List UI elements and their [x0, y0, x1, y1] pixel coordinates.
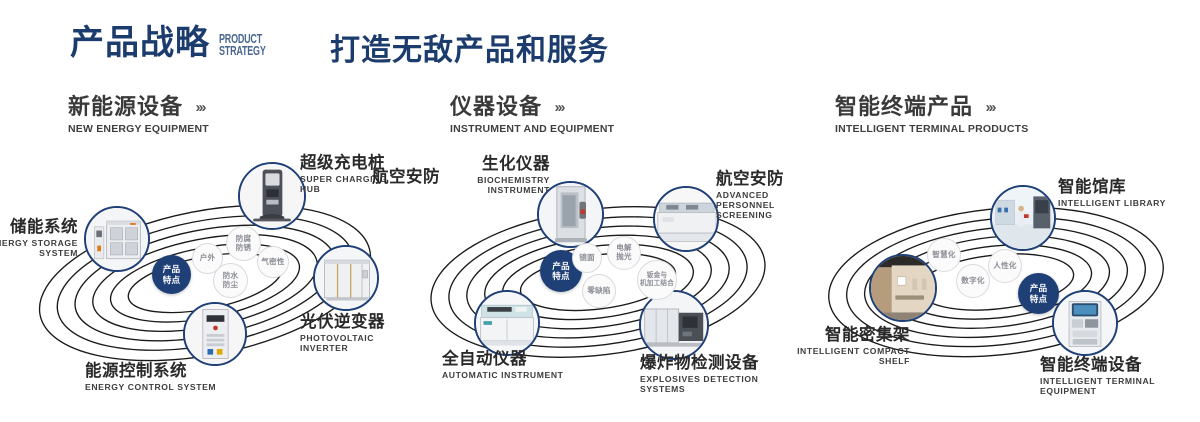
node-label-cn: 能源控制系统 — [85, 362, 187, 380]
node-label-en: INTELLIGENT COMPACT SHELF — [730, 347, 910, 367]
label-biochemistry-instrument: 生化仪器 BIOCHEMISTRY INSTRUMENT — [440, 155, 550, 196]
node-label-en: BIOCHEMISTRY INSTRUMENT — [440, 176, 550, 196]
chevron-right-icon: ››› — [554, 99, 563, 116]
node-automatic-instrument[interactable] — [474, 290, 540, 356]
node-label-cn: 航空安防 — [372, 168, 440, 186]
feature-bubble-primary: 产品 特点 — [152, 255, 191, 294]
node-label-en: ENERGY STORAGE SYSTEM — [0, 239, 78, 259]
label-energy-storage: 储能系统 ENERGY STORAGE SYSTEM — [0, 218, 78, 259]
node-label-cn: 光伏逆变器 — [300, 313, 385, 331]
feature-bubble: 智慧化 — [927, 238, 961, 272]
page-title-en: PRODUCT STRATEGY — [219, 33, 266, 59]
node-label-en: PHOTOVOLTAIC INVERTER — [300, 334, 400, 354]
node-label-cn: 全自动仪器 — [442, 350, 527, 368]
node-label-cn: 航空安防 — [716, 170, 784, 188]
label-automatic-instrument: 全自动仪器 AUTOMATIC INSTRUMENT — [442, 350, 563, 381]
diagram-cluster-new-energy: 储能系统 ENERGY STORAGE SYSTEM 超级充电桩 SUPER C… — [0, 150, 400, 415]
page-tagline: 打造无敌产品和服务 — [330, 36, 609, 66]
page-title: 产品战略 — [70, 26, 210, 60]
intelligent-library-photo — [992, 187, 1054, 249]
feature-bubble: 防水 防尘 — [213, 263, 248, 298]
node-explosives-detection[interactable] — [639, 290, 709, 360]
terminal-kiosk-photo — [1054, 292, 1116, 354]
feature-bubble: 钣金与 机加工结合 — [637, 260, 677, 300]
feature-bubble: 人性化 — [988, 249, 1022, 283]
label-intelligent-terminal-equipment: 智能终端设备 INTELLIGENT TERMINAL EQUIPMENT — [1040, 356, 1200, 397]
feature-bubble: 数字化 — [956, 264, 990, 298]
node-label-en: ENERGY CONTROL SYSTEM — [85, 383, 216, 393]
feature-bubble: 零缺陷 — [582, 274, 616, 308]
node-label-en: EXPLOSIVES DETECTION SYSTEMS — [640, 375, 800, 395]
node-label-en: INTELLIGENT TERMINAL EQUIPMENT — [1040, 377, 1200, 397]
feature-bubble: 镜面 — [572, 243, 602, 273]
node-super-charging-hub[interactable] — [238, 162, 306, 230]
charging-pile-photo — [240, 164, 304, 228]
node-personnel-screening[interactable] — [653, 186, 719, 252]
section-title-instrument: 仪器设备 ››› INSTRUMENT AND EQUIPMENT — [450, 95, 614, 135]
diagram-cluster-instrument: 航空安防 生化仪器 BIOCHEMISTRY INSTRUMENT 航空安防 A… — [400, 150, 800, 415]
node-label-en: ADVANCED PERSONNEL SCREENING — [716, 191, 800, 221]
feature-bubble-primary: 产品 特点 — [1018, 273, 1059, 314]
feature-bubble: 气密性 — [257, 246, 289, 278]
compact-shelf-photo — [871, 256, 935, 320]
label-energy-control-system: 能源控制系统 ENERGY CONTROL SYSTEM — [85, 362, 216, 393]
section-title-en: NEW ENERGY EQUIPMENT — [68, 123, 209, 135]
node-intelligent-compact-shelf[interactable] — [869, 254, 937, 322]
node-energy-storage[interactable] — [84, 206, 150, 272]
energy-storage-cabinet-photo — [86, 208, 148, 270]
section-title-cn: 仪器设备 — [450, 95, 542, 119]
label-intelligent-library: 智能馆库 INTELLIGENT LIBRARY — [1058, 178, 1166, 209]
section-title-cn: 智能终端产品 — [835, 95, 973, 119]
section-title-en: INTELLIGENT TERMINAL PRODUCTS — [835, 123, 1028, 135]
label-personnel-screening: 航空安防 ADVANCED PERSONNEL SCREENING — [716, 170, 800, 221]
personnel-screening-photo — [655, 188, 717, 250]
node-label-en: INTELLIGENT LIBRARY — [1058, 199, 1166, 209]
explosives-detection-photo — [641, 292, 707, 358]
label-aviation-security-left: 航空安防 — [330, 168, 440, 187]
section-title-intelligent-terminal: 智能终端产品 ››› INTELLIGENT TERMINAL PRODUCTS — [835, 95, 1028, 135]
node-label-cn: 智能终端设备 — [1040, 356, 1142, 374]
feature-bubble: 电解 抛光 — [607, 236, 641, 270]
page-header: 产品战略 PRODUCT STRATEGY — [70, 26, 284, 60]
node-intelligent-terminal-equipment[interactable] — [1052, 290, 1118, 356]
chevron-right-icon: ››› — [985, 99, 994, 116]
feature-bubble: 防腐 防锈 — [226, 226, 261, 261]
node-label-cn: 智能密集架 — [825, 326, 910, 344]
label-photovoltaic-inverter: 光伏逆变器 PHOTOVOLTAIC INVERTER — [300, 313, 400, 354]
section-title-new-energy: 新能源设备 ››› NEW ENERGY EQUIPMENT — [68, 95, 209, 135]
chevron-right-icon: ››› — [195, 99, 204, 116]
node-energy-control-system[interactable] — [183, 302, 247, 366]
node-label-cn: 智能馆库 — [1058, 178, 1126, 196]
node-label-cn: 储能系统 — [10, 218, 78, 236]
node-label-en: AUTOMATIC INSTRUMENT — [442, 371, 563, 381]
node-label-cn: 生化仪器 — [482, 155, 550, 173]
label-intelligent-compact-shelf: 智能密集架 INTELLIGENT COMPACT SHELF — [730, 326, 910, 367]
energy-control-cabinet-photo — [185, 304, 245, 364]
section-title-en: INSTRUMENT AND EQUIPMENT — [450, 123, 614, 135]
node-intelligent-library[interactable] — [990, 185, 1056, 251]
node-photovoltaic-inverter[interactable] — [313, 245, 379, 311]
automatic-instrument-photo — [476, 292, 538, 354]
photovoltaic-inverter-photo — [315, 247, 377, 309]
section-title-cn: 新能源设备 — [68, 95, 183, 119]
diagram-cluster-intelligent-terminal: 智能馆库 INTELLIGENT LIBRARY 智能密集架 INTELLIGE… — [800, 150, 1200, 415]
